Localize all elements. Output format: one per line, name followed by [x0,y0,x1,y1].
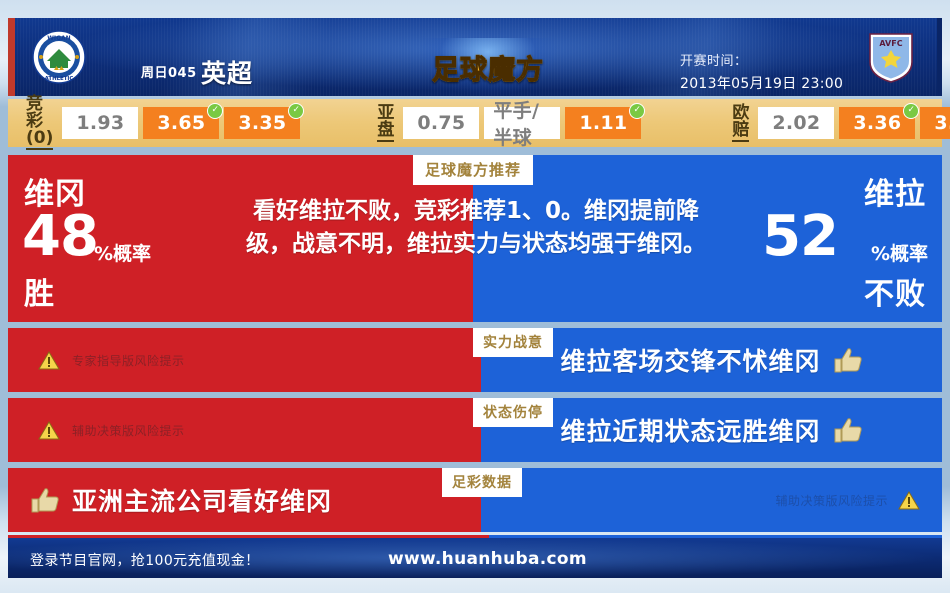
odds-group-euro: 欧赔 2.02 3.36✓ 3.54✓ [732,105,950,142]
check-icon: ✓ [288,103,304,119]
fact-statement: 亚洲主流公司看好维冈 [8,482,481,518]
home-outcome-label: 胜 [24,269,55,313]
recommendation-text: 看好维拉不败，竞彩推荐1、0。维冈提前降级，战意不明，维拉实力与状态均强于维冈。 [246,195,706,260]
fact-row-badge: 状态伤停 [473,398,553,427]
fact-statement-text: 维拉客场交锋不怵维冈 [560,342,820,378]
risk-notice-text: 辅助决策版风险提示 [775,492,888,509]
risk-notice: 专家指导版风险提示 [8,351,185,370]
footer-bar: 登录节目官网，抢100元充值现金！ www.huanhuba.com [8,538,942,578]
recommendation-badge: 足球魔方推荐 [413,155,533,185]
fact-row-badge: 实力战意 [473,328,553,357]
fact-row-left: 专家指导版风险提示 [8,328,481,392]
check-icon: ✓ [207,103,223,119]
odds-cell[interactable]: 0.75 [403,107,479,139]
away-team-name: 维拉 [864,169,926,213]
brand-logo-text: 足球魔方 [432,48,544,87]
odds-value: 2.02 [772,112,820,134]
risk-notice-text: 辅助决策版风险提示 [72,422,185,439]
fact-row: 亚洲主流公司看好维冈 辅助决策版风险提示 足彩数据 [8,468,942,532]
away-probability-unit: %概率 [871,239,928,266]
odds-cell[interactable]: 3.36✓ [839,107,915,139]
risk-notice-text: 专家指导版风险提示 [72,352,185,369]
odds-value: 0.75 [417,112,465,134]
home-probability-unit: %概率 [94,239,151,266]
odds-value: 平手/半球 [493,96,551,150]
odds-cell[interactable]: 2.02 [758,107,834,139]
home-team-badge-icon: WIGAN ATHLETIC [32,30,86,84]
footer-url[interactable]: www.huanhuba.com [388,549,587,569]
warning-icon [898,491,920,510]
app-root: WIGAN ATHLETIC AVFC 周日045 英超 足球魔方 开赛时间： … [0,0,950,593]
odds-group-title: 亚盘 [377,105,394,142]
odds-group-jingcai: 竞彩(0) 1.93 3.65✓ 3.35✓ [26,96,305,150]
brand-logo: 足球魔方 [418,38,558,96]
odds-group-asian: 亚盘 0.75 平手/半球 1.11✓ [377,105,646,142]
footer-accent-red [8,535,489,538]
fact-row-badge: 足彩数据 [442,468,522,497]
fact-row-left: 辅助决策版风险提示 [8,398,481,462]
risk-notice: 辅助决策版风险提示 [481,491,942,510]
kickoff-label: 开赛时间： [680,50,748,69]
warning-icon [38,421,60,440]
odds-value: 3.65 [157,112,205,134]
fact-statement-text: 维拉近期状态远胜维冈 [560,412,820,448]
prediction-panel: 维冈 48 %概率 胜 维拉 52 %概率 不败 足球魔方推荐 看好维拉不败，竞… [8,155,942,322]
kickoff-time: 2013年05月19日 23:00 [680,73,843,93]
match-round: 周日045 [141,62,197,81]
thumbs-up-icon [833,347,863,374]
away-outcome-label: 不败 [864,269,926,313]
fact-row: 专家指导版风险提示 维拉客场交锋不怵维冈 实力战意 [8,328,942,392]
header-left-accent [8,18,15,96]
thumbs-up-icon [833,417,863,444]
odds-cell[interactable]: 1.93 [62,107,138,139]
odds-cell[interactable]: 3.54✓ [920,107,950,139]
fact-statement-text: 亚洲主流公司看好维冈 [72,482,332,518]
odds-cell[interactable]: 1.11✓ [565,107,641,139]
away-team-badge-icon: AVFC [864,30,918,84]
fact-row-right: 辅助决策版风险提示 [481,468,942,532]
odds-value: 3.54 [934,112,950,134]
svg-text:ATHLETIC: ATHLETIC [45,76,74,82]
odds-cell[interactable]: 3.65✓ [143,107,219,139]
risk-notice: 辅助决策版风险提示 [8,421,185,440]
odds-value: 3.36 [853,112,901,134]
check-icon: ✓ [629,103,645,119]
fact-row-left: 亚洲主流公司看好维冈 [8,468,481,532]
odds-group-title: 欧赔 [732,105,749,142]
odds-group-title: 竞彩(0) [26,96,53,150]
match-header: WIGAN ATHLETIC AVFC 周日045 英超 足球魔方 开赛时间： … [8,18,942,96]
odds-value: 1.11 [579,112,627,134]
fact-row: 辅助决策版风险提示 维拉近期状态远胜维冈 状态伤停 [8,398,942,462]
footer-accent-blue [489,535,942,538]
odds-bar: 竞彩(0) 1.93 3.65✓ 3.35✓ 亚盘 0.75 平手/半球 1.1… [8,99,942,147]
odds-cell[interactable]: 3.35✓ [224,107,300,139]
footer-promo-text: 登录节目官网，抢100元充值现金！ [30,550,260,570]
header-right-accent [937,18,942,96]
odds-value: 3.35 [238,112,286,134]
away-probability-value: 52 [762,209,838,265]
check-icon: ✓ [903,103,919,119]
odds-value: 1.93 [76,112,124,134]
thumbs-up-icon [30,487,60,514]
league-name: 英超 [201,54,253,90]
home-probability-value: 48 [22,209,98,265]
svg-text:AVFC: AVFC [879,39,902,48]
odds-cell[interactable]: 平手/半球 [484,107,560,139]
warning-icon [38,351,60,370]
svg-text:WIGAN: WIGAN [47,35,70,42]
